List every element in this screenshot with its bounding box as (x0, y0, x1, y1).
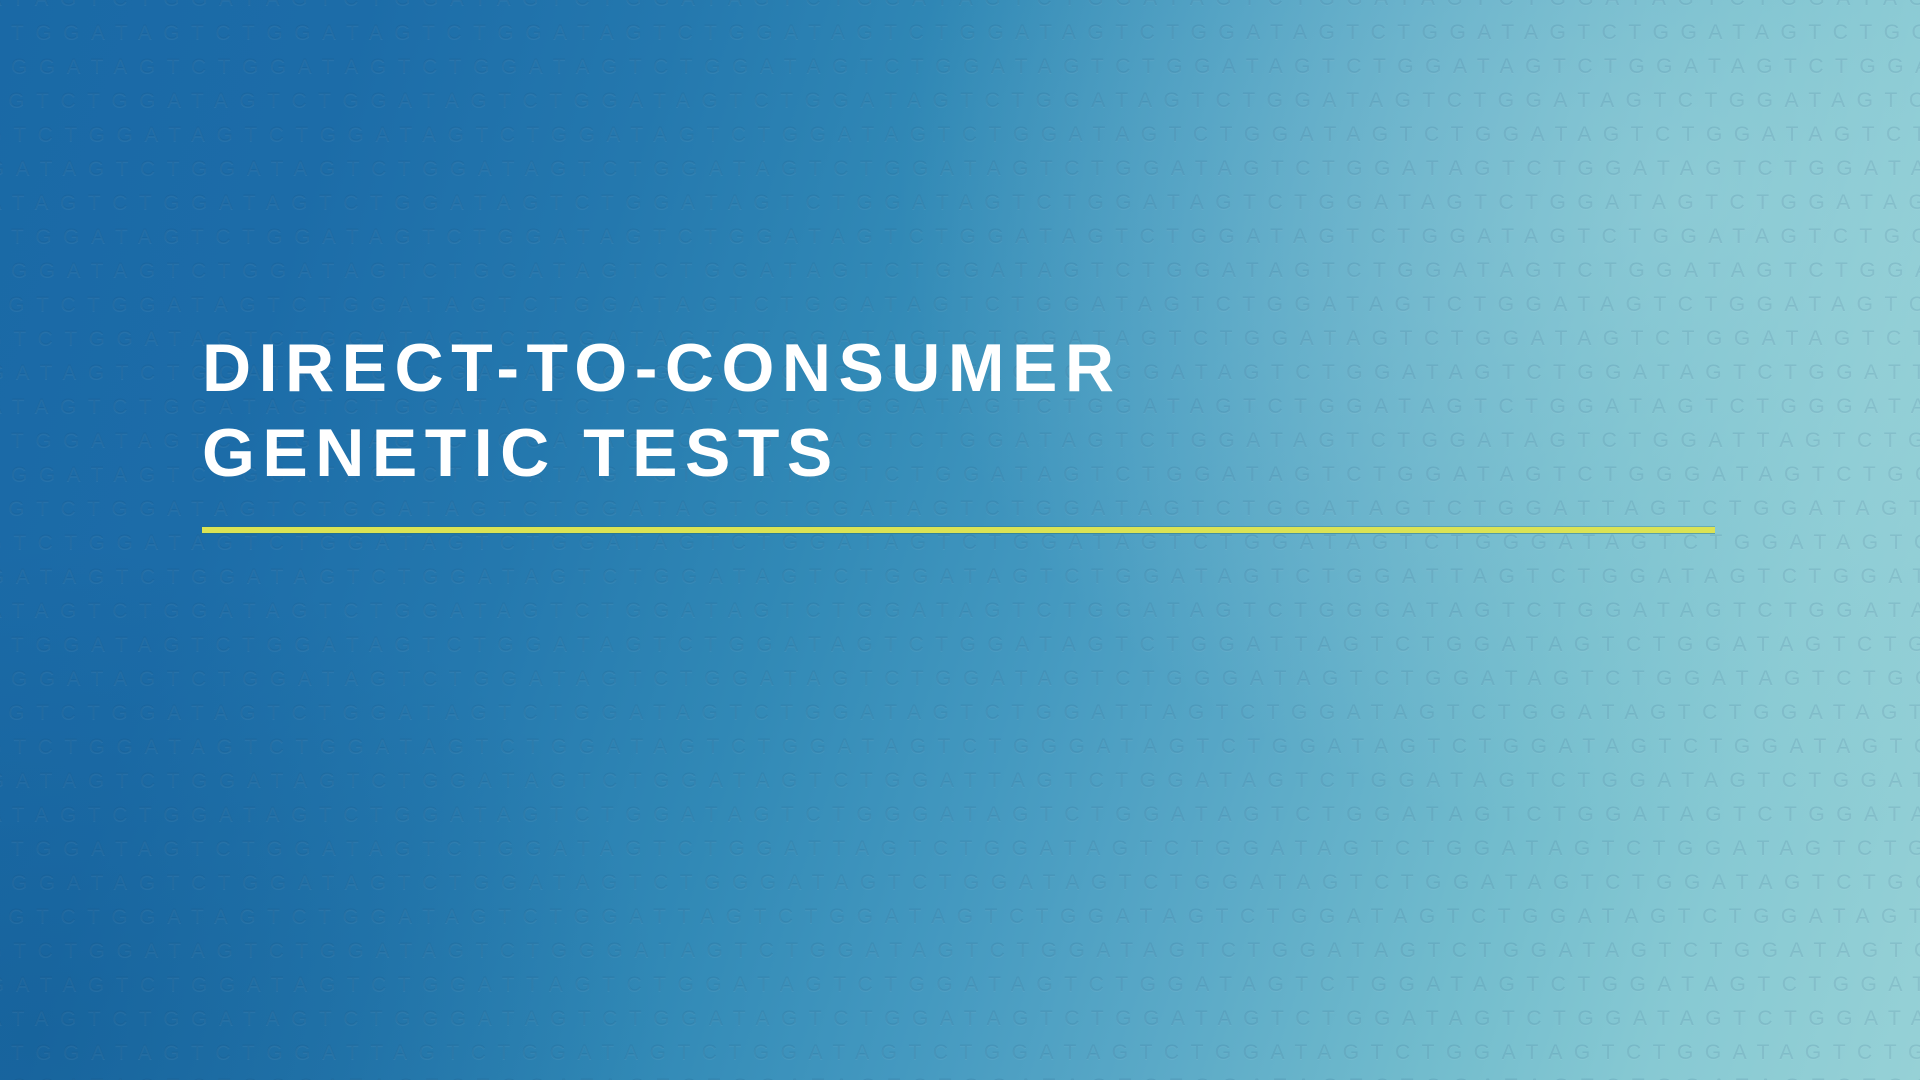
background-vignette (0, 0, 1920, 1080)
title-slide: GATAGTCTGGATAGTCTGGATAGTCTGGATAGTCTGGATA… (0, 0, 1920, 1080)
accent-divider-rule (202, 527, 1715, 533)
page-title: Direct-to-Consumer Genetic Tests (202, 326, 1762, 496)
title-block: Direct-to-Consumer Genetic Tests (202, 326, 1762, 496)
